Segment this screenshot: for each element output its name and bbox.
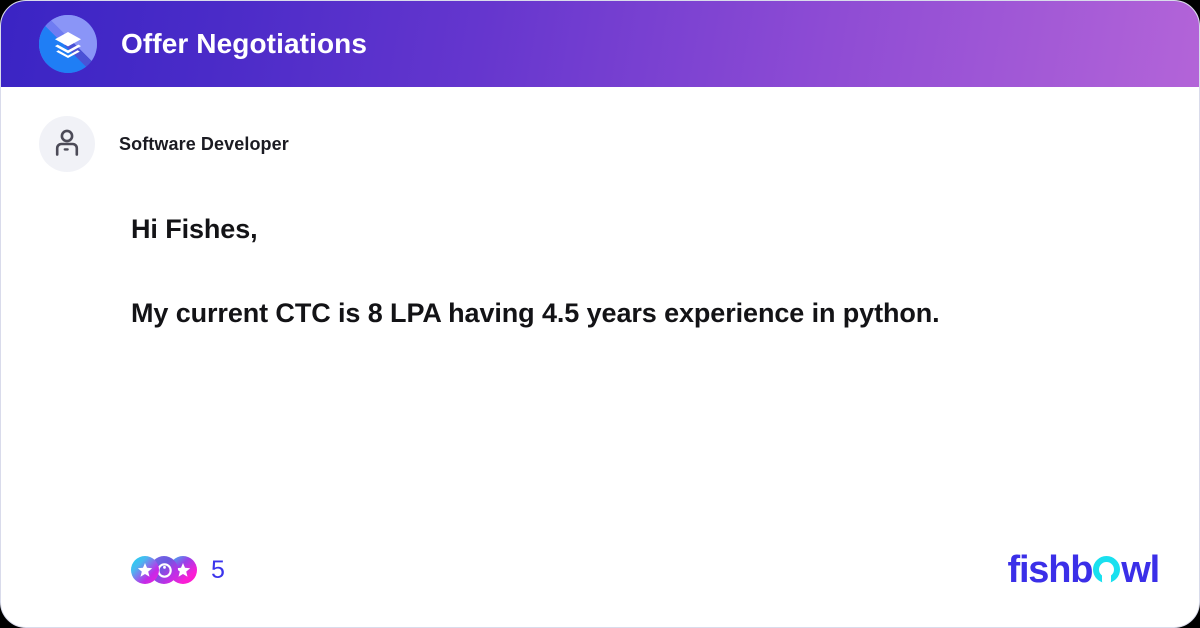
group-title: Offer Negotiations [121, 28, 367, 60]
card-header: Offer Negotiations [1, 1, 1199, 87]
card-body: Software Developer Hi Fishes, My current… [1, 87, 1199, 627]
post-card: Offer Negotiations Software Developer Hi… [0, 0, 1200, 628]
avatar [39, 116, 95, 172]
reaction-star-cyan[interactable] [131, 556, 159, 584]
reaction-badges[interactable] [131, 556, 197, 584]
brand-text-part2: wl [1121, 549, 1159, 592]
group-logo [39, 15, 97, 73]
fishbowl-logo: fishb wl [1008, 549, 1160, 592]
reaction-count: 5 [211, 556, 225, 585]
brand-text-part1: fishb [1008, 549, 1093, 592]
person-icon [52, 127, 82, 162]
post-line-1: Hi Fishes, [131, 212, 1139, 248]
layers-stack-icon [39, 15, 97, 73]
reactions-group[interactable]: 5 [131, 556, 225, 585]
author-name: Software Developer [119, 134, 289, 155]
post-line-2: My current CTC is 8 LPA having 4.5 years… [131, 296, 1139, 332]
star-icon [137, 562, 153, 578]
fishbowl-o-icon [1093, 556, 1120, 583]
post-text: Hi Fishes, My current CTC is 8 LPA havin… [1, 172, 1199, 331]
card-footer: 5 fishb wl [1, 547, 1199, 593]
author-row[interactable]: Software Developer [1, 87, 1199, 172]
